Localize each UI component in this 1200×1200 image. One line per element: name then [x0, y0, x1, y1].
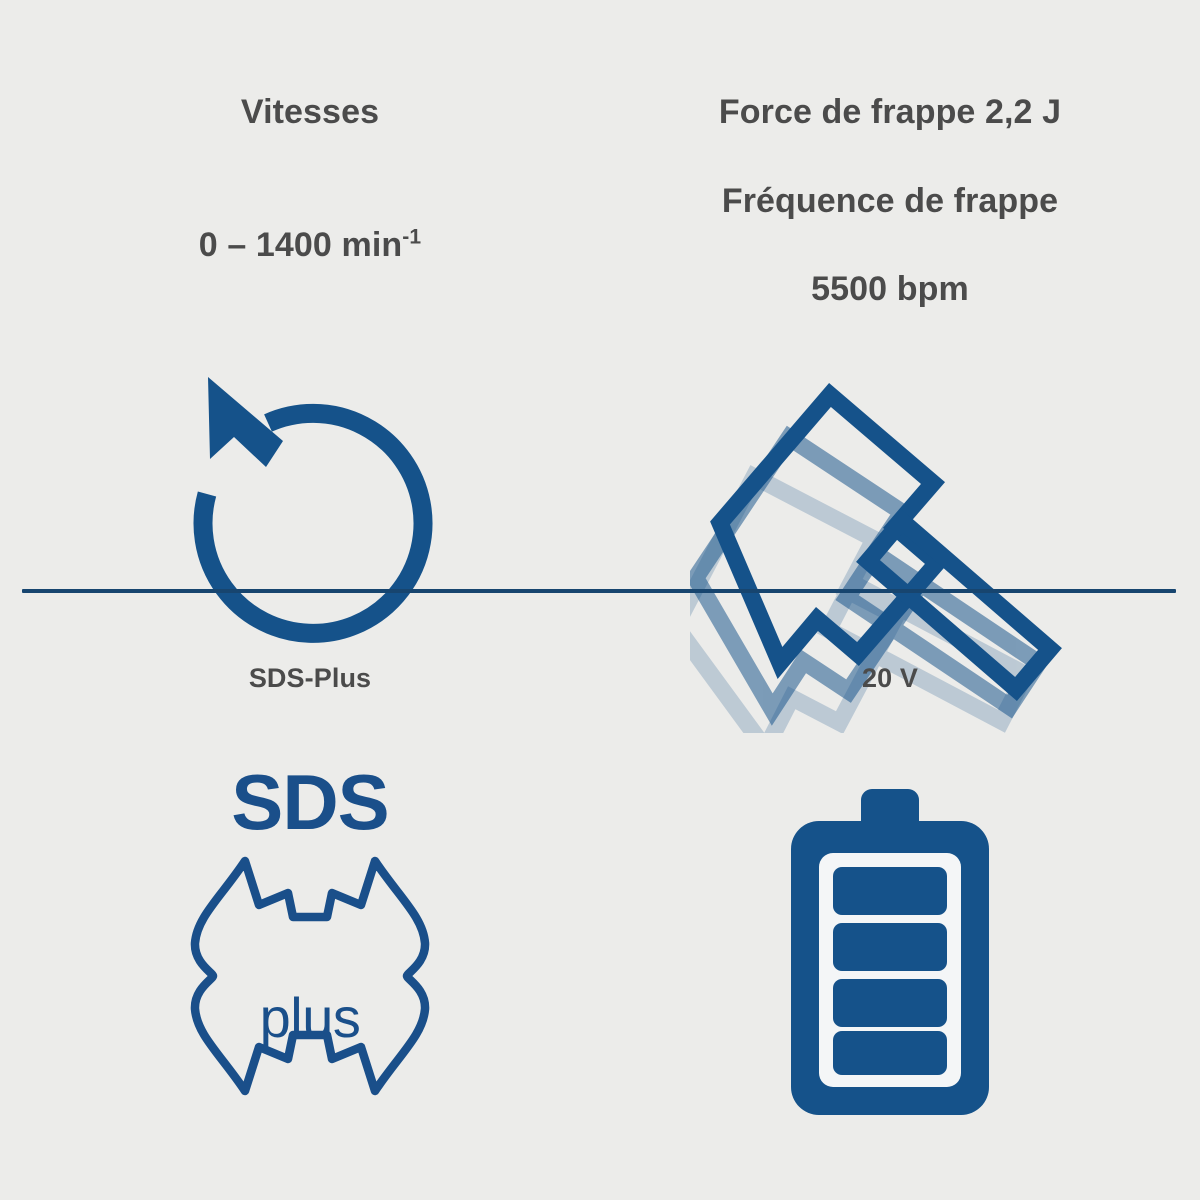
sds-logo-word: SDS — [231, 763, 388, 841]
sds-logo-subword: plus — [185, 990, 435, 1046]
feature-cell-battery: 20 V — [600, 626, 1180, 1117]
caption-battery-line1: 20 V — [862, 661, 918, 696]
sds-logo: SDS plus — [185, 763, 435, 1105]
caption-speed-line1: Vitesses — [199, 90, 421, 134]
caption-impact: Force de frappe 2,2 J Fréquence de frapp… — [719, 46, 1061, 355]
feature-cell-speed: Vitesses 0 – 1400 min-1 — [20, 46, 600, 679]
caption-speed-line2: 0 – 1400 min-1 — [199, 179, 421, 267]
caption-speed-exponent: -1 — [402, 225, 421, 248]
caption-speed-line2-text: 0 – 1400 min — [199, 226, 402, 264]
section-divider — [22, 589, 1176, 593]
caption-speed: Vitesses 0 – 1400 min-1 — [199, 46, 421, 311]
caption-battery: 20 V — [862, 626, 918, 731]
battery-bar — [833, 867, 947, 915]
sds-plus-logo-icon: SDS plus — [185, 763, 435, 1105]
battery-icon — [775, 787, 1005, 1117]
caption-impact-line1: Force de frappe 2,2 J — [719, 90, 1061, 134]
battery-bar — [833, 923, 947, 971]
feature-cell-chuck: SDS-Plus SDS plus — [20, 626, 600, 1105]
caption-chuck-line1: SDS-Plus — [249, 661, 371, 696]
infographic-canvas: Vitesses 0 – 1400 min-1 Force de frappe … — [0, 0, 1200, 1200]
caption-impact-line3: 5500 bpm — [719, 267, 1061, 311]
sds-chuck-profile-shape: plus — [185, 847, 435, 1105]
caption-chuck: SDS-Plus — [249, 626, 371, 731]
battery-bar — [833, 1031, 947, 1075]
caption-impact-line2: Fréquence de frappe — [719, 179, 1061, 223]
battery-bar — [833, 979, 947, 1027]
